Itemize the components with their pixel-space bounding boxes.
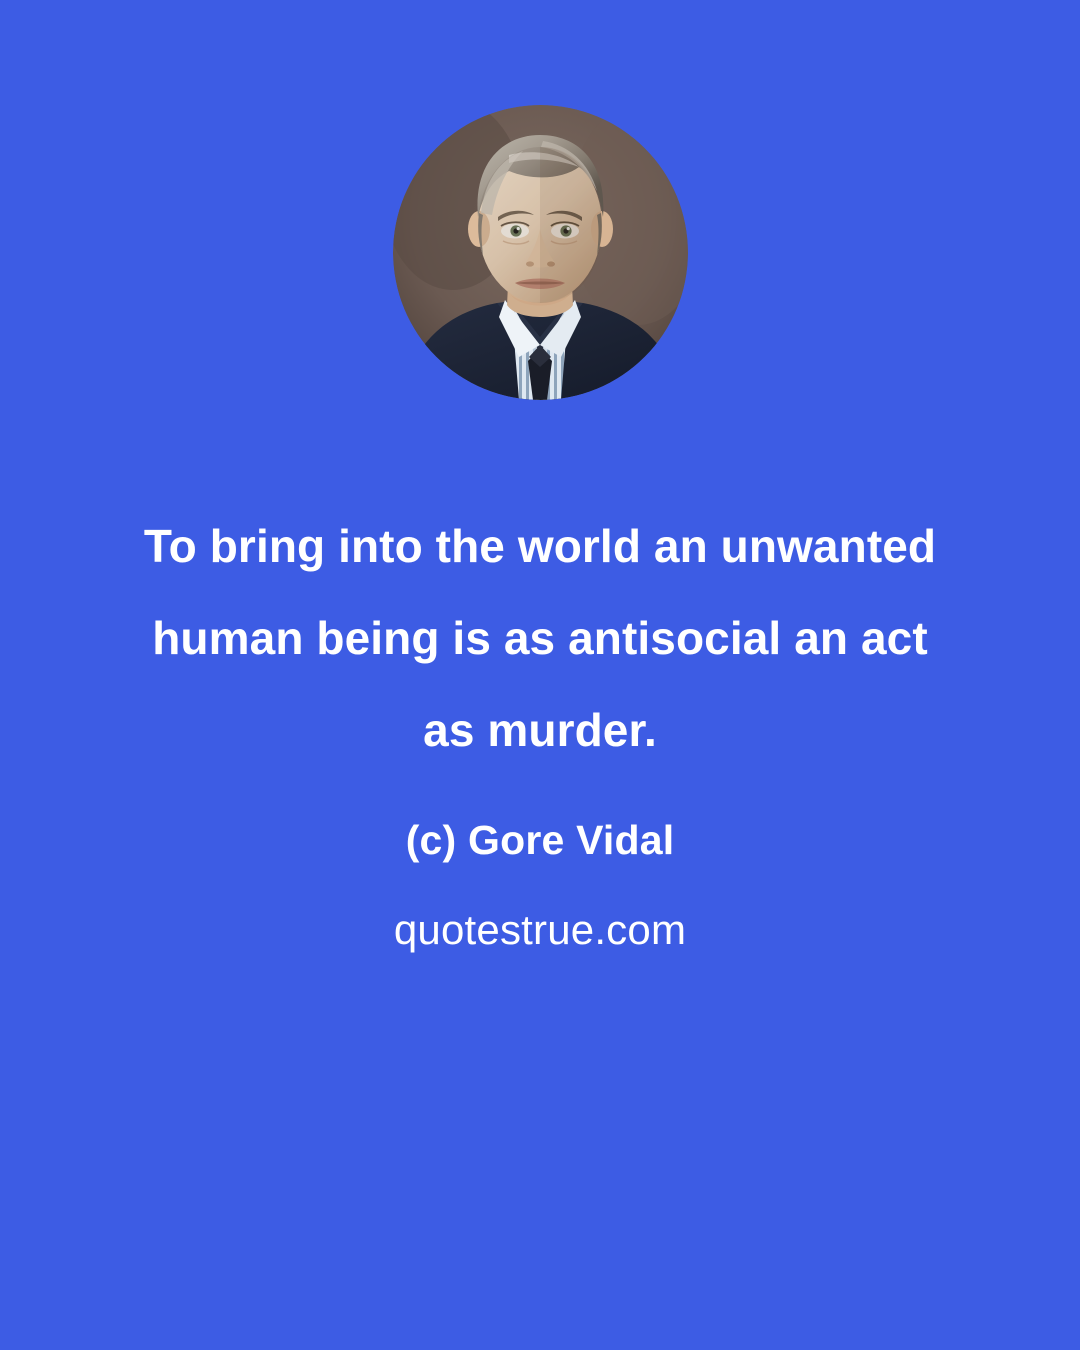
author-portrait-image bbox=[393, 105, 688, 400]
quote-line-2: human being is as antisocial an act bbox=[0, 592, 1080, 684]
quote-card: To bring into the world an unwanted huma… bbox=[0, 0, 1080, 1350]
quote-text: To bring into the world an unwanted huma… bbox=[0, 500, 1080, 776]
site-credit: quotestrue.com bbox=[0, 901, 1080, 959]
quote-line-3: as murder. bbox=[0, 684, 1080, 776]
author-portrait bbox=[393, 105, 688, 400]
author-attribution: (c) Gore Vidal bbox=[0, 812, 1080, 868]
quote-line-1: To bring into the world an unwanted bbox=[0, 500, 1080, 592]
